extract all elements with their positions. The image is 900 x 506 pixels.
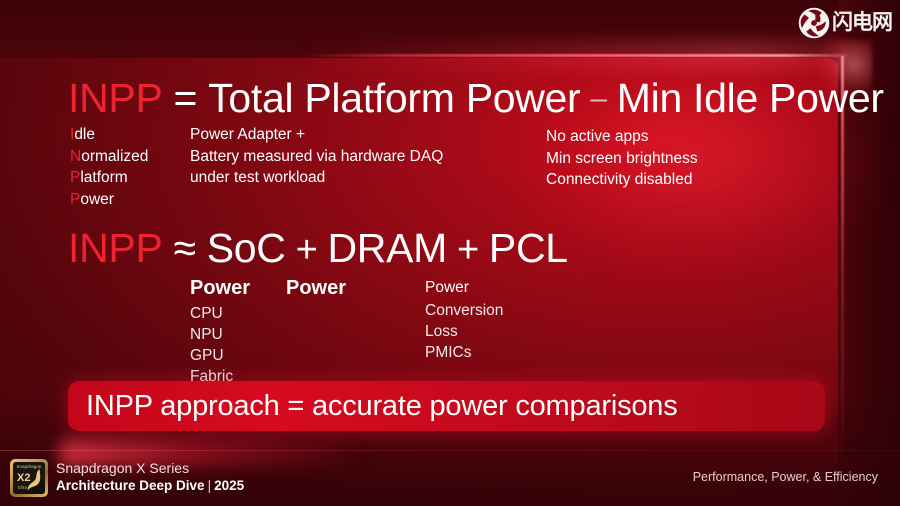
acronym-rest-text: ormalized: [81, 148, 148, 165]
snapdragon-chip-badge-icon: Snapdragon X2 Elite: [10, 459, 48, 497]
footer-year: 2025: [214, 478, 244, 493]
equation-1-term-min-idle-power: Min Idle Power: [617, 78, 884, 119]
aperture-shutter-icon: [797, 6, 831, 40]
equation-2-term-pcl: PCL: [489, 228, 568, 269]
acronym-key-letter: P: [70, 169, 80, 186]
footer-separator: |: [205, 478, 215, 493]
equation-row-2: INPP ≈ SoC + DRAM + PCL: [68, 228, 568, 269]
equation-1-term-total-platform-power: Total Platform Power: [208, 78, 580, 119]
footer-title: Snapdragon X Series: [56, 459, 189, 477]
acronym-rest-text: latform: [80, 169, 127, 186]
footer-divider: [0, 450, 900, 451]
footer-subtitle: Architecture Deep Dive|2025: [56, 477, 244, 495]
callout-text: INPP approach = accurate power compariso…: [68, 390, 678, 423]
equation-1-acronym: INPP: [68, 78, 163, 119]
acronym-expansion-item: Normalized: [70, 146, 148, 168]
column-heading: Power: [425, 277, 503, 298]
acronym-key-letter: P: [70, 191, 80, 208]
watermark-text: 闪电网: [832, 6, 892, 40]
acronym-key-letter: N: [70, 148, 81, 165]
column-soc-power: Power CPU NPU GPU Fabric: [190, 275, 250, 387]
column-heading: Power: [286, 275, 346, 301]
dragon-swoosh-icon: [26, 468, 43, 492]
watermark: 闪电网: [797, 6, 892, 40]
column-pcl-power: Power Conversion Loss PMICs: [425, 277, 503, 363]
acronym-expansion-list: Idle Normalized Platform Power: [70, 124, 148, 210]
notes-measurement-method: Power Adapter + Battery measured via har…: [190, 124, 443, 189]
equation-2-acronym: INPP: [68, 228, 163, 269]
acronym-rest-text: ower: [80, 191, 114, 208]
acronym-rest-text: dle: [74, 126, 95, 143]
acronym-expansion-item: Power: [70, 189, 148, 211]
slide-content: INPP = Total Platform Power – Min Idle P…: [0, 0, 900, 506]
equation-row-1: INPP = Total Platform Power – Min Idle P…: [68, 78, 884, 119]
equation-2-plus-operator-2: +: [447, 231, 489, 269]
equation-1-equals-operator: =: [163, 78, 209, 119]
slide-canvas: INPP = Total Platform Power – Min Idle P…: [0, 0, 900, 506]
acronym-expansion-item: Platform: [70, 167, 148, 189]
equation-1-minus-operator: –: [580, 84, 616, 114]
column-items: Conversion Loss PMICs: [425, 300, 503, 363]
notes-idle-conditions: No active apps Min screen brightness Con…: [546, 126, 698, 191]
equation-2-term-soc: SoC: [207, 228, 286, 269]
equation-2-approx-operator: ≈: [163, 228, 207, 269]
equation-2-term-dram: DRAM: [327, 228, 447, 269]
equation-2-plus-operator-1: +: [286, 231, 328, 269]
slide-footer: Snapdragon X2 Elite Snapdragon X Series …: [0, 450, 900, 506]
column-heading: Power: [190, 275, 250, 301]
footer-subtitle-text: Architecture Deep Dive: [56, 478, 205, 493]
footer-tagline: Performance, Power, & Efficiency: [693, 470, 878, 484]
acronym-expansion-item: Idle: [70, 124, 148, 146]
callout-banner: INPP approach = accurate power compariso…: [68, 381, 825, 431]
column-dram-power: Power: [286, 275, 346, 303]
column-items: CPU NPU GPU Fabric: [190, 303, 250, 387]
